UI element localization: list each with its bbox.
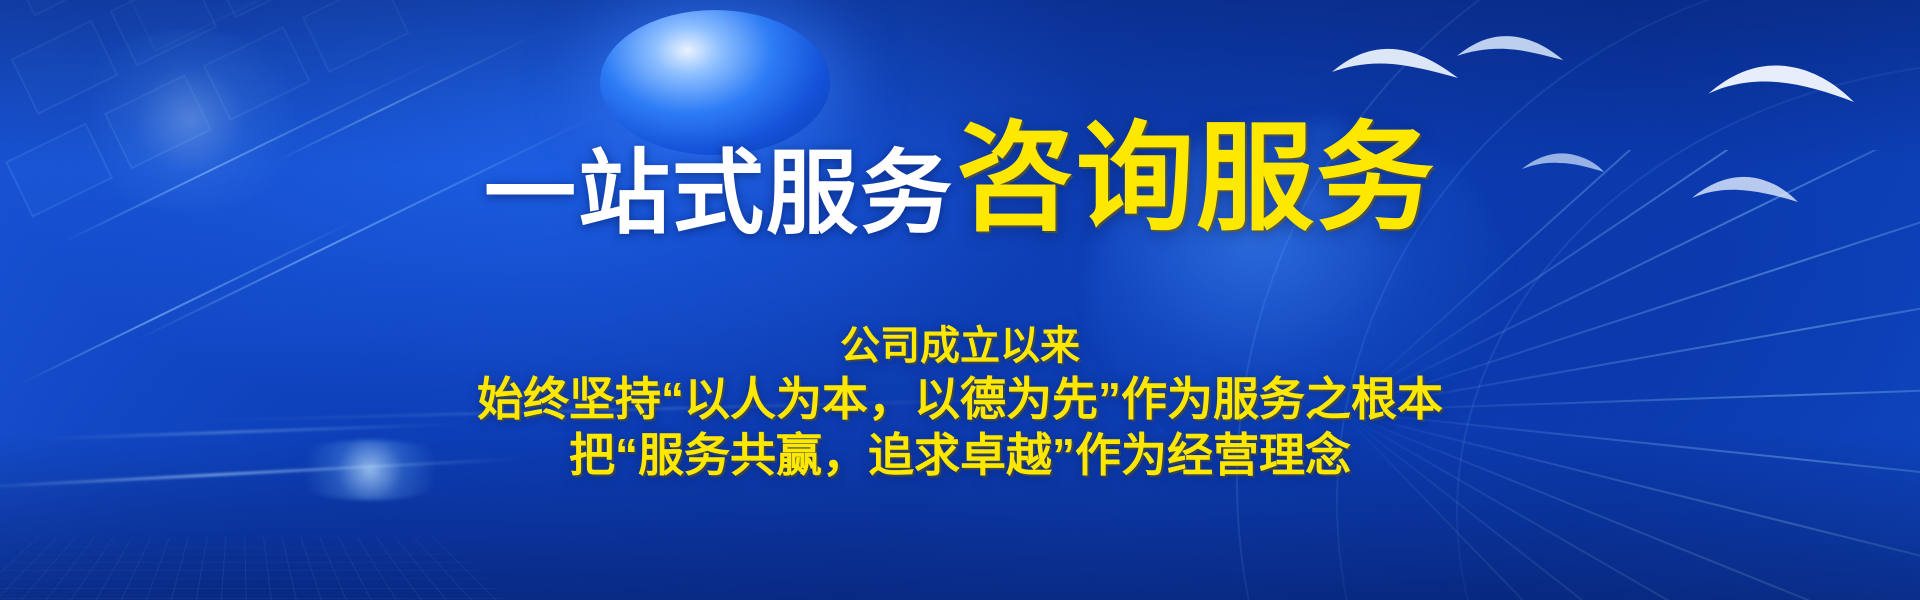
promo-banner: 一站式服务咨询服务 公司成立以来 始终坚持“以人为本，以德为先”作为服务之根本 … — [0, 0, 1920, 600]
body-copy-line: 始终坚持“以人为本，以德为先”作为服务之根本 — [0, 371, 1920, 427]
body-copy-line: 公司成立以来 — [0, 322, 1920, 371]
headline-lead-text: 一站式服务 — [484, 143, 954, 245]
bird-swoosh-icon — [1330, 42, 1460, 86]
body-copy-line: 把“服务共赢，追求卓越”作为经营理念 — [0, 427, 1920, 483]
perspective-grid-decoration — [0, 537, 520, 600]
headline: 一站式服务咨询服务 — [0, 82, 1920, 253]
body-copy: 公司成立以来 始终坚持“以人为本，以德为先”作为服务之根本 把“服务共赢，追求卓… — [0, 322, 1920, 483]
headline-accent-text: 咨询服务 — [956, 113, 1436, 245]
bird-swoosh-icon — [1455, 30, 1565, 68]
